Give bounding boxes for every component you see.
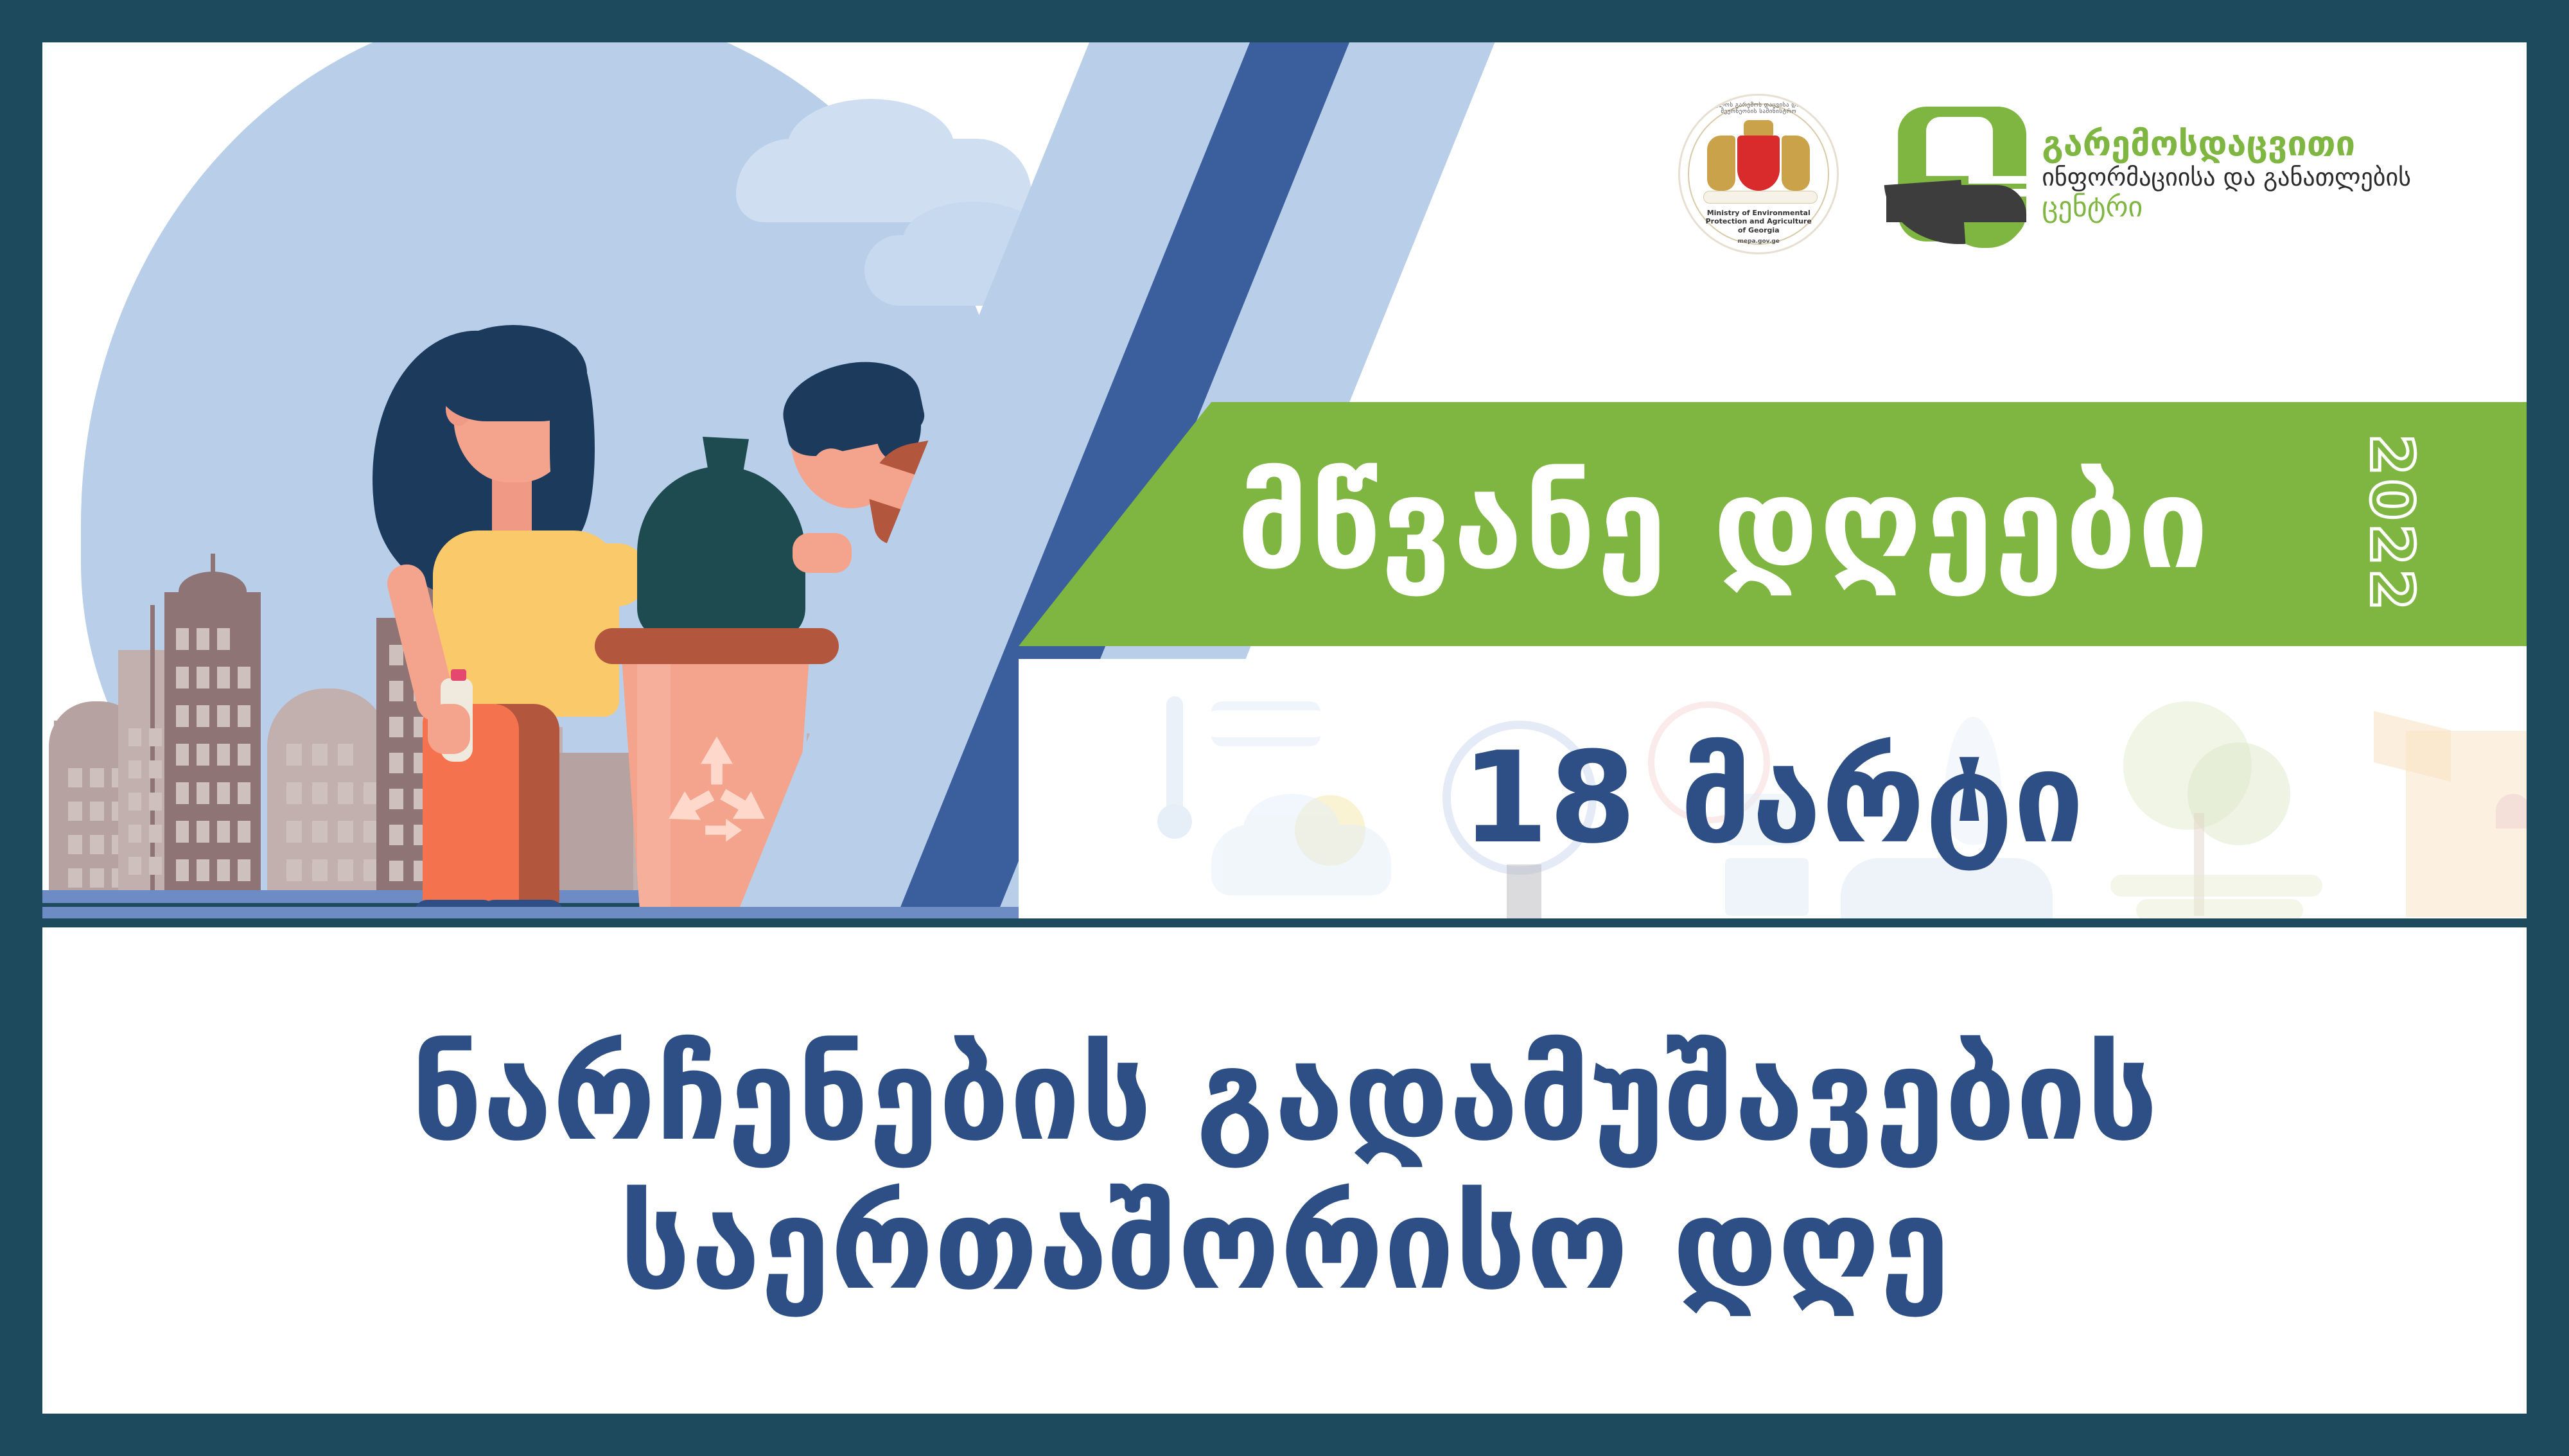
green-title-banner: მწვანე დღეები 2022 [1019, 402, 2527, 646]
crown-icon [1744, 120, 1773, 136]
banner-title: მწვანე დღეები [1237, 461, 2210, 587]
date-band: 18 მარტი [1019, 659, 2527, 927]
center-logo-line1: გარემოსდაცვითი [2042, 127, 2411, 161]
ministry-emblem: საქართველოს გარემოს დაცვისა და სოფლის მე… [1678, 94, 1839, 254]
shield-icon [1737, 136, 1780, 191]
planter-icon [2110, 875, 2322, 897]
thermometer-icon [1166, 696, 1183, 818]
ministry-en-line2: Protection and Agriculture [1680, 217, 1837, 225]
center-logo-line2: ინფორმაციისა და განათლების [2042, 165, 2411, 189]
cloud-icon [1211, 825, 1391, 895]
motto-ribbon [1703, 191, 1818, 204]
wind-icon [1211, 701, 1320, 746]
clock-stand-icon [1507, 864, 1541, 922]
ministry-geo-text: საქართველოს გარემოს დაცვისა და სოფლის მე… [1680, 102, 1837, 115]
lion-icon [1782, 136, 1810, 191]
separator-blue [42, 907, 1019, 918]
poster-root: მწვანე დღეები 2022 [0, 0, 2569, 1456]
poster-canvas: მწვანე დღეები 2022 [42, 42, 2527, 1414]
center-logo-text: გარემოსდაცვითი ინფორმაციისა და განათლები… [2042, 127, 2411, 222]
logo-row: საქართველოს გარემოს დაცვისა და სოფლის მე… [1678, 94, 2411, 254]
headline-line-1: ნარჩენების გადამუშავების [411, 1022, 2158, 1170]
planter-icon [2136, 899, 2303, 921]
ministry-url: mepa.gov.ge [1680, 238, 1837, 245]
ministry-en-line3: of Georgia [1680, 226, 1837, 234]
headline-line-2: საერთაშორისო დღე [619, 1171, 1950, 1319]
illustration-section: მწვანე დღეები 2022 [42, 42, 2527, 927]
center-logo-line3: ცენტრი [2042, 193, 2411, 222]
headline-section: ნარჩენების გადამუშავების საერთაშორისო დღ… [42, 927, 2527, 1414]
separator-dark [42, 918, 2527, 927]
ministry-en-line1: Ministry of Environmental [1680, 209, 1837, 217]
center-logo-mark [1898, 107, 2026, 241]
center-logo: გარემოსდაცვითი ინფორმაციისა და განათლები… [1898, 107, 2411, 241]
ministry-en-text: Ministry of Environmental Protection and… [1680, 209, 1837, 234]
lion-icon [1707, 136, 1735, 191]
up-arrow-icon [2496, 794, 2527, 829]
event-date: 18 მარტი [1461, 735, 2084, 861]
year-label: 2022 [2357, 434, 2426, 614]
